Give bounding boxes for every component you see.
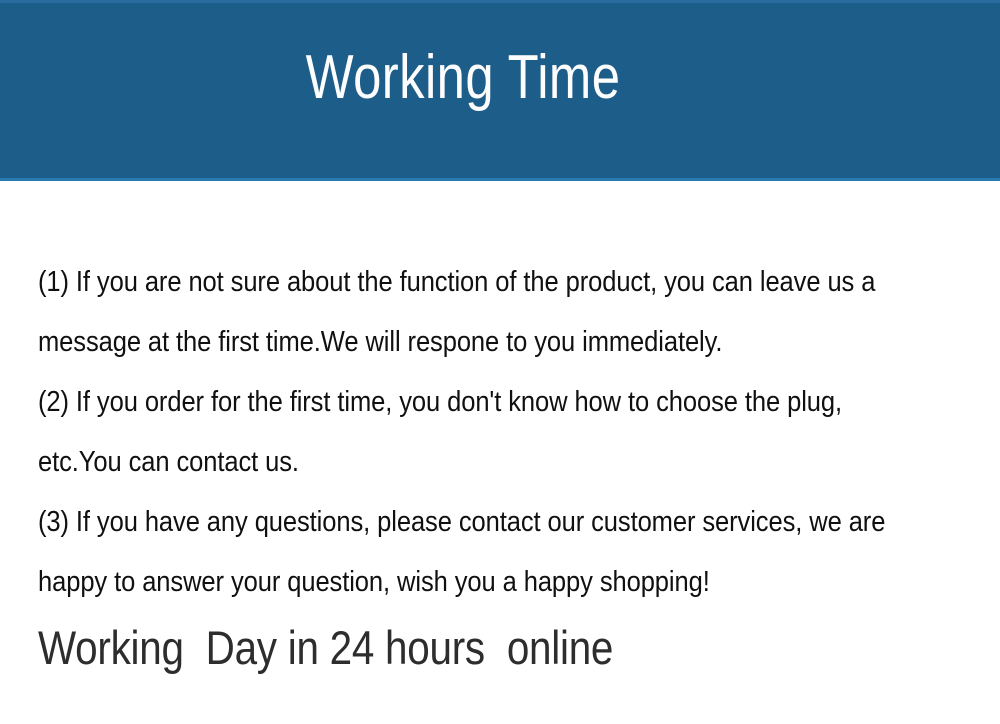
working-time-banner: Working Time (1) If you are not sure abo… bbox=[0, 0, 1000, 724]
policy-line: (1) If you are not sure about the functi… bbox=[38, 252, 874, 312]
working-hours-headline: Working Day in 24 hours online bbox=[38, 612, 613, 684]
policy-text-block: (1) If you are not sure about the functi… bbox=[38, 252, 988, 612]
policy-line: happy to answer your question, wish you … bbox=[38, 552, 874, 612]
policy-line: (3) If you have any questions, please co… bbox=[38, 492, 874, 552]
policy-line: (2) If you order for the first time, you… bbox=[38, 372, 874, 432]
header-band: Working Time bbox=[0, 0, 1000, 181]
page-title: Working Time bbox=[83, 42, 842, 114]
policy-line: etc.You can contact us. bbox=[38, 432, 874, 492]
policy-line: message at the first time.We will respon… bbox=[38, 312, 874, 372]
